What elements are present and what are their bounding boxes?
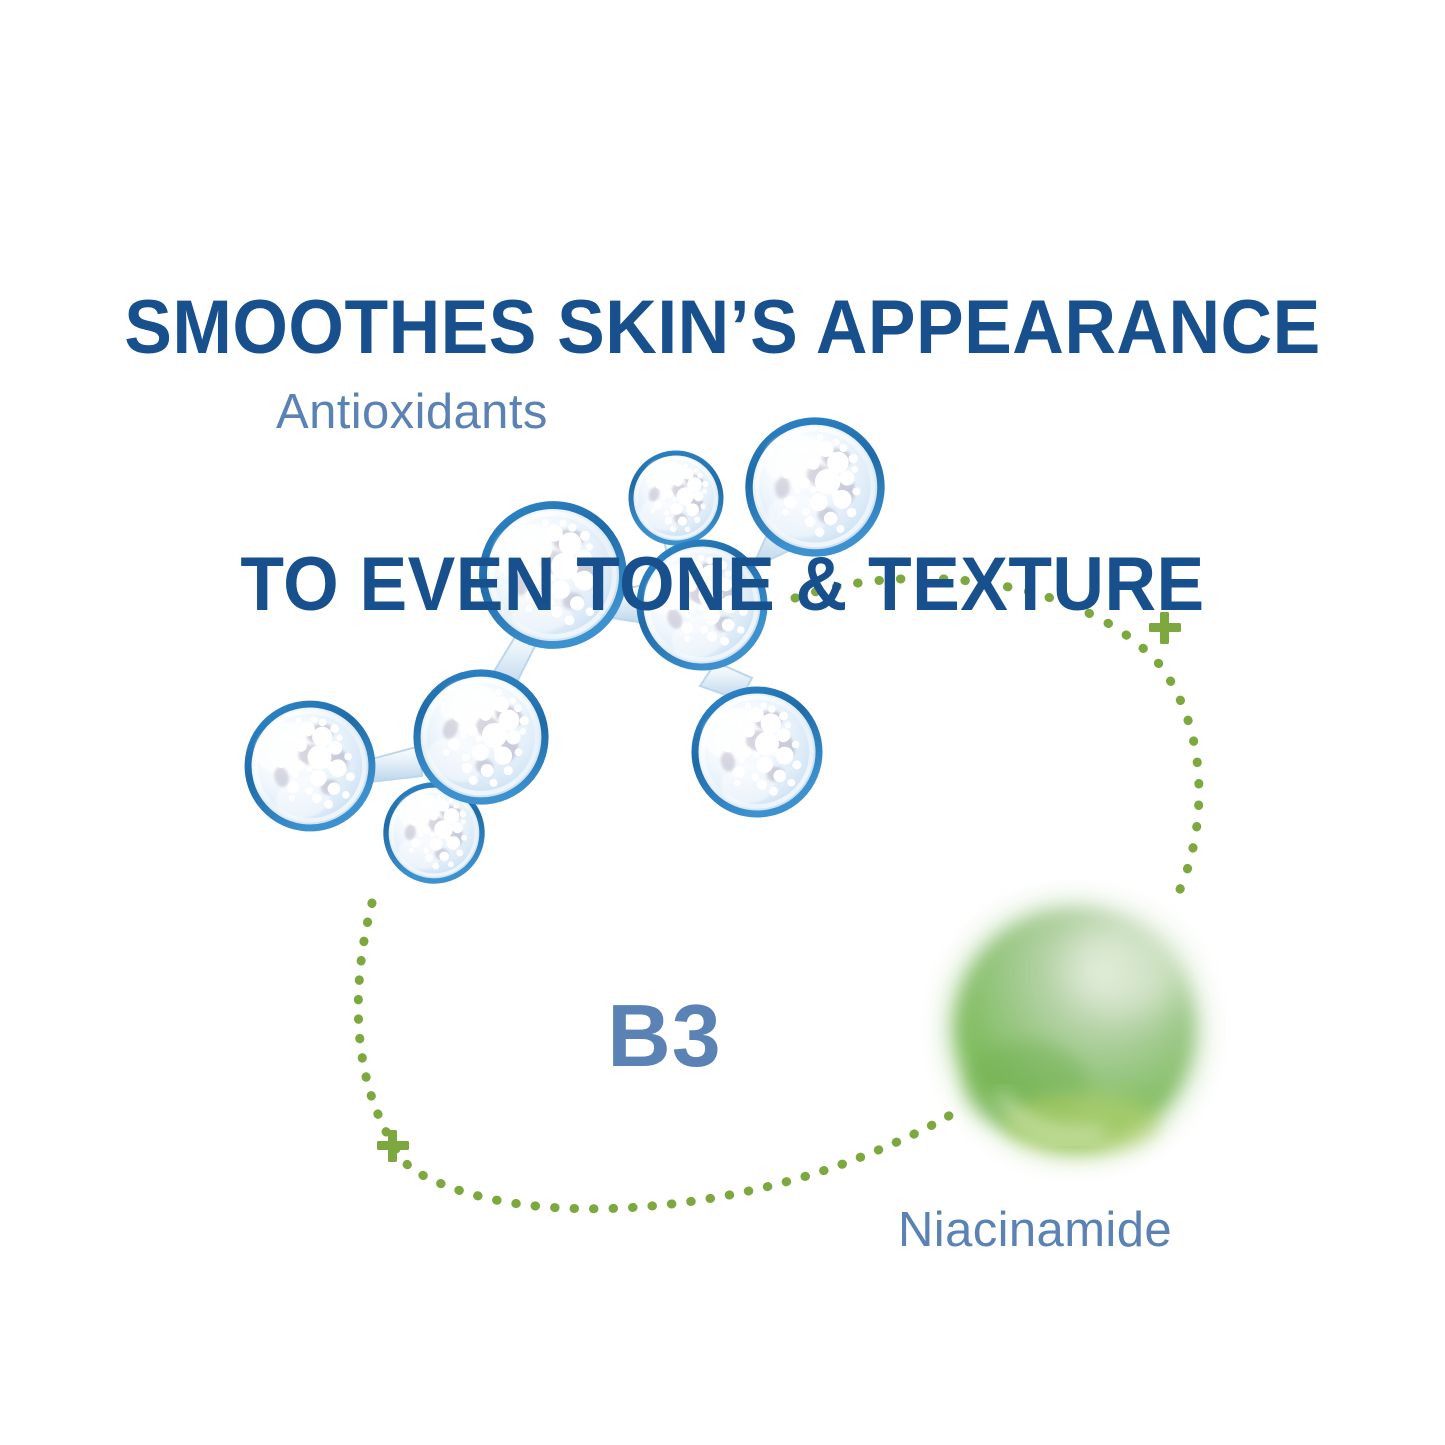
niacinamide-b3-sphere <box>955 908 1195 1154</box>
page-title: SMOOTHES SKIN’S APPEARANCE TO EVEN TONE … <box>43 113 1401 800</box>
plus-icon-lower <box>377 1130 409 1162</box>
niacinamide-label: Niacinamide <box>898 1202 1172 1258</box>
dotted-arc-lower <box>358 903 962 1209</box>
antioxidants-label: Antioxidants <box>276 384 548 440</box>
marketing-graphic: SMOOTHES SKIN’S APPEARANCE TO EVEN TONE … <box>0 0 1445 1445</box>
headline-line-1: SMOOTHES SKIN’S APPEARANCE <box>43 285 1401 371</box>
headline-line-2: TO EVEN TONE & TEXTURE <box>43 542 1401 628</box>
